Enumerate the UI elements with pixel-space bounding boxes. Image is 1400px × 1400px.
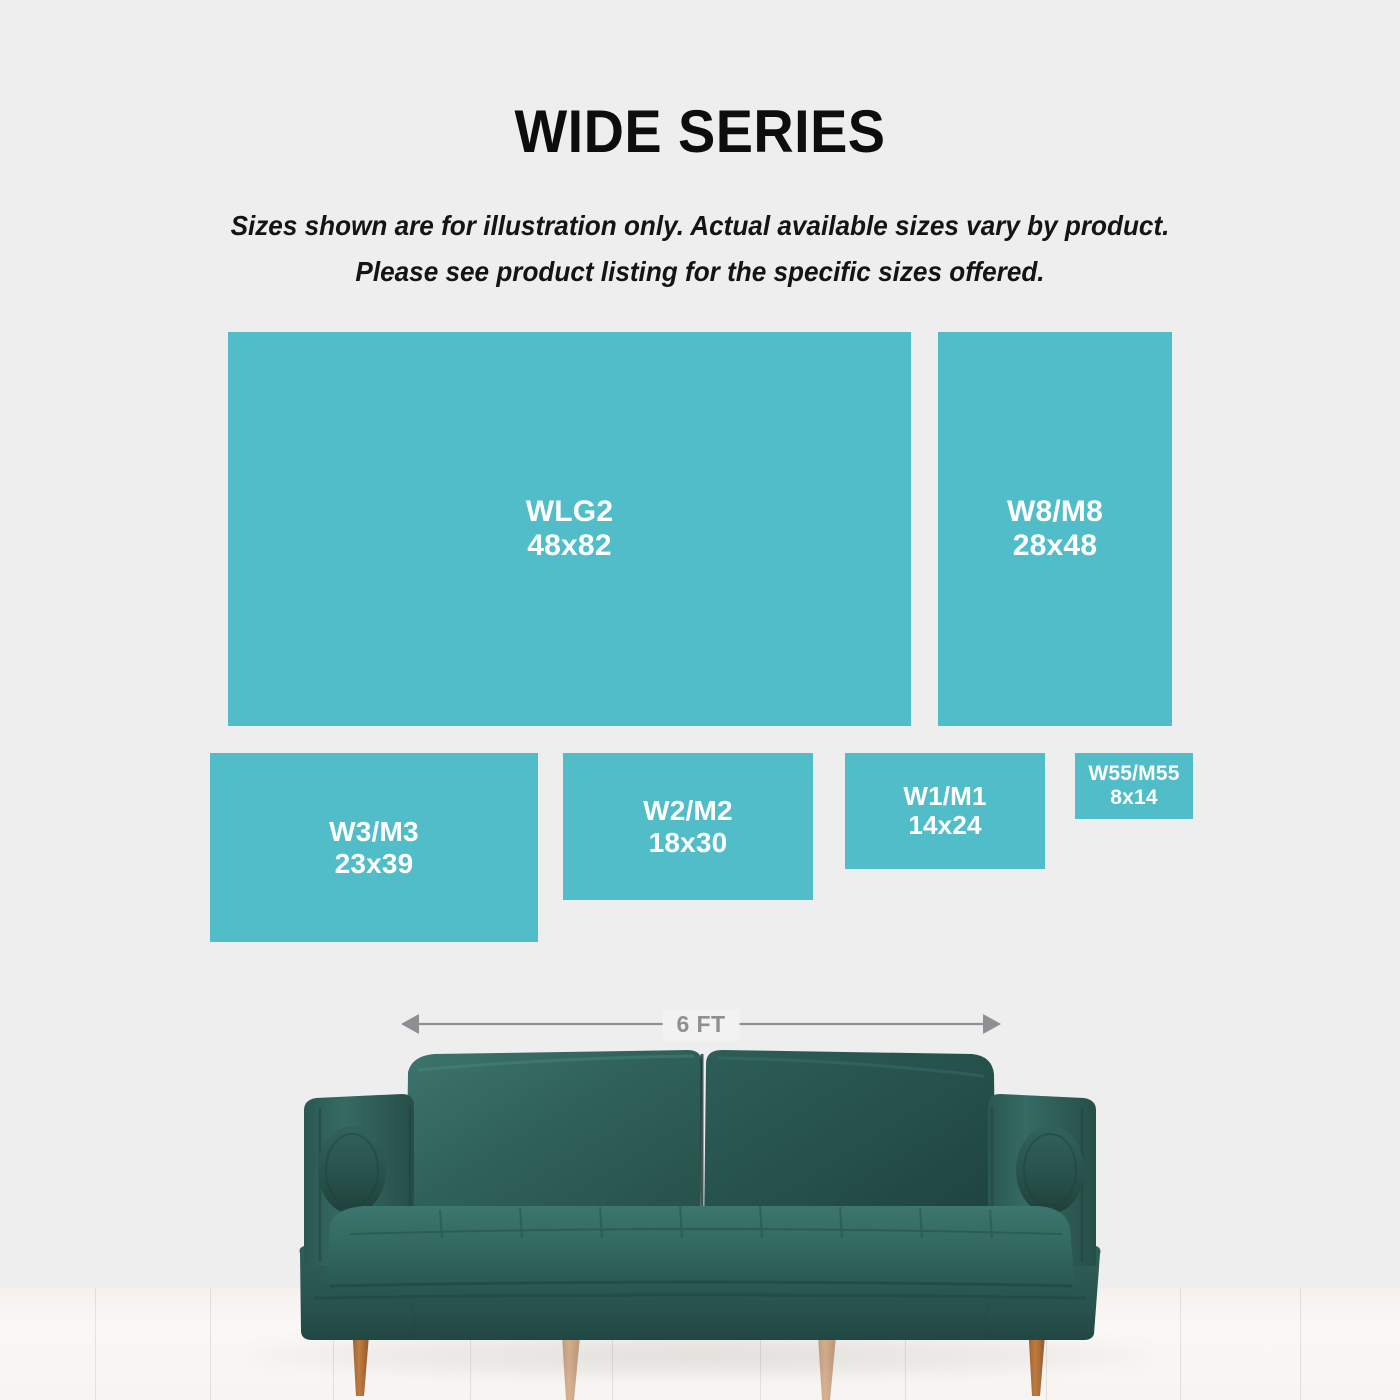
size-panel-dimensions: 18x30 bbox=[649, 827, 728, 858]
size-panel-code: WLG2 bbox=[526, 495, 613, 529]
size-panel-dimensions: 8x14 bbox=[1110, 786, 1158, 810]
size-panel-w1-m1[interactable]: W1/M1 14x24 bbox=[845, 753, 1045, 869]
sofa-image bbox=[290, 1048, 1110, 1400]
disclaimer-line-1: Sizes shown are for illustration only. A… bbox=[35, 203, 1365, 249]
size-panel-code: W2/M2 bbox=[643, 795, 733, 826]
size-panel-dimensions: 23x39 bbox=[335, 848, 414, 879]
sofa-icon bbox=[290, 1048, 1110, 1400]
size-panel-w2-m2[interactable]: W2/M2 18x30 bbox=[563, 753, 813, 900]
back-cushion-left bbox=[406, 1050, 702, 1230]
scale-label: 6 FT bbox=[663, 1009, 740, 1041]
size-panel-code: W3/M3 bbox=[329, 816, 419, 847]
size-panel-code: W55/M55 bbox=[1088, 762, 1179, 786]
disclaimer-line-2: Please see product listing for the speci… bbox=[35, 249, 1365, 295]
page-title: WIDE SERIES bbox=[49, 97, 1351, 166]
size-panel-w55-m55[interactable]: W55/M55 8x14 bbox=[1075, 753, 1193, 819]
size-panel-dimensions: 28x48 bbox=[1013, 529, 1097, 563]
size-panel-wlg2[interactable]: WLG2 48x82 bbox=[228, 332, 911, 726]
size-chart-canvas: WIDE SERIES Sizes shown are for illustra… bbox=[0, 0, 1400, 1400]
size-panel-dimensions: 14x24 bbox=[908, 811, 981, 840]
size-panel-dimensions: 48x82 bbox=[527, 529, 611, 563]
size-panel-code: W1/M1 bbox=[903, 782, 986, 811]
bolster-left bbox=[318, 1126, 386, 1214]
back-cushion-right bbox=[704, 1050, 996, 1230]
disclaimer-text: Sizes shown are for illustration only. A… bbox=[35, 203, 1365, 295]
scale-measurement: 6 FT bbox=[400, 1005, 1002, 1045]
size-panel-w8-m8[interactable]: W8/M8 28x48 bbox=[938, 332, 1172, 726]
size-panel-w3-m3[interactable]: W3/M3 23x39 bbox=[210, 753, 538, 942]
bolster-right bbox=[1016, 1126, 1084, 1214]
size-panel-code: W8/M8 bbox=[1007, 495, 1103, 529]
